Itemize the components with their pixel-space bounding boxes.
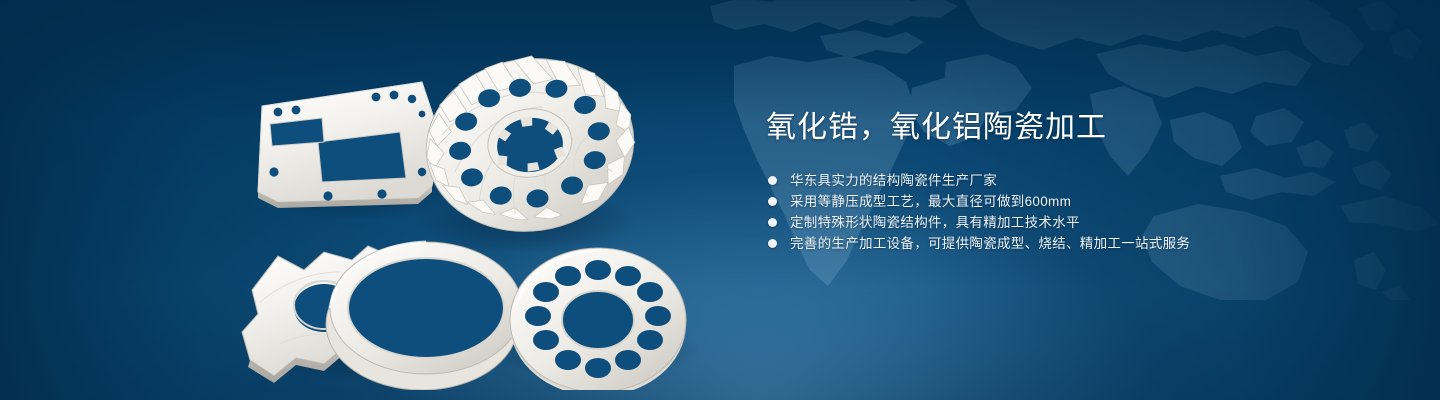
ceramic-plate-part (258, 82, 440, 208)
feature-text: 华东具实力的结构陶瓷件生产厂家 (790, 170, 997, 191)
bullet-dot-icon (768, 176, 777, 185)
feature-text: 完善的生产加工设备，可提供陶瓷成型、烧结、精加工一站式服务 (790, 233, 1190, 254)
bullet-dot-icon (768, 197, 777, 206)
feature-text: 定制特殊形状陶瓷结构件，具有精加工技术水平 (790, 212, 1080, 233)
bullet-dot-icon (768, 239, 777, 248)
banner-copy: 氧化锆，氧化铝陶瓷加工 华东具实力的结构陶瓷件生产厂家 采用等静压成型工艺，最大… (766, 108, 1386, 254)
list-item: 完善的生产加工设备，可提供陶瓷成型、烧结、精加工一站式服务 (768, 233, 1386, 254)
list-item: 采用等静压成型工艺，最大直径可做到600mm (768, 191, 1386, 212)
list-item: 定制特殊形状陶瓷结构件，具有精加工技术水平 (768, 212, 1386, 233)
feature-text: 采用等静压成型工艺，最大直径可做到600mm (790, 191, 1071, 212)
product-photo-collage (200, 20, 760, 390)
list-item: 华东具实力的结构陶瓷件生产厂家 (768, 170, 1386, 191)
page-title: 氧化锆，氧化铝陶瓷加工 (766, 108, 1386, 148)
bullet-dot-icon (768, 218, 777, 227)
ceramic-ring-part (326, 242, 522, 390)
feature-list: 华东具实力的结构陶瓷件生产厂家 采用等静压成型工艺，最大直径可做到600mm 定… (768, 170, 1386, 254)
hero-banner: 氧化锆，氧化铝陶瓷加工 华东具实力的结构陶瓷件生产厂家 采用等静压成型工艺，最大… (0, 0, 1440, 400)
ceramic-perforated-disc-part (510, 248, 686, 390)
